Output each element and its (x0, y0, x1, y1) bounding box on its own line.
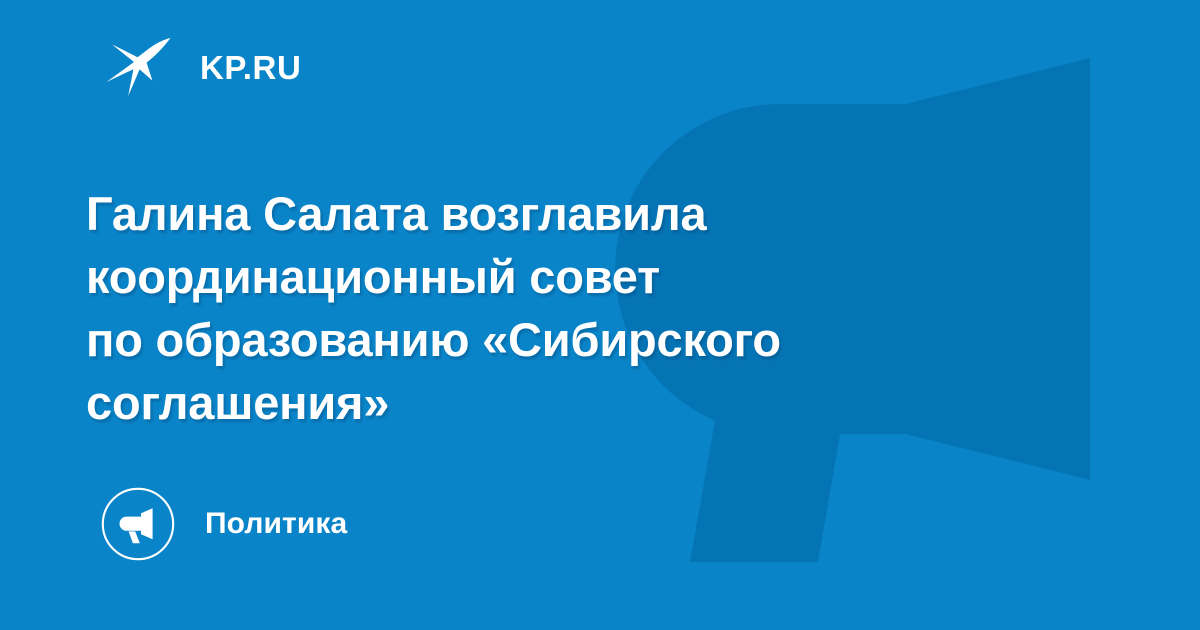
category-label: Политика (205, 509, 347, 539)
headline-line-1: Галина Салата возглавила (86, 183, 886, 246)
headline-line-3: по образованию «Сибирского (86, 309, 886, 372)
social-share-card: KP.RU Галина Салата возглавила координац… (0, 0, 1200, 630)
category-badge[interactable]: Политика (101, 487, 347, 561)
headline: Галина Салата возглавила координационный… (86, 183, 886, 434)
headline-line-4: соглашения» (86, 372, 886, 435)
swallow-bird-icon (106, 36, 178, 98)
megaphone-icon (101, 487, 175, 561)
headline-line-2: координационный совет (86, 246, 886, 309)
brand-wordmark: KP.RU (200, 51, 301, 84)
brand-logo[interactable]: KP.RU (106, 36, 301, 98)
